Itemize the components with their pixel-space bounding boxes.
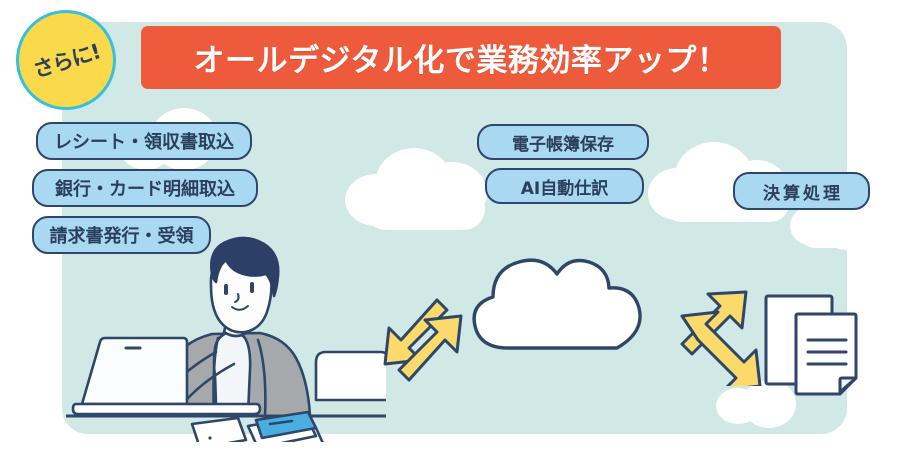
pill-bank-card-import: 銀行・カード明細取込 <box>32 169 258 207</box>
pill-receipt-import: レシート・領収書取込 <box>36 122 252 160</box>
title-banner: オールデジタル化で業務効率アップ！ <box>141 26 781 89</box>
sarani-badge: さらに! <box>16 10 116 110</box>
pill-ai-auto-journal: AI自動仕訳 <box>485 168 644 204</box>
sarani-badge-label: さらに! <box>29 36 103 85</box>
person-at-laptop <box>66 212 386 442</box>
pill-electronic-bookkeeping: 電子帳簿保存 <box>477 124 649 160</box>
page-title: オールデジタル化で業務効率アップ！ <box>194 35 729 80</box>
exchange-arrows-left-icon <box>375 292 471 388</box>
promo-graphic: オールデジタル化で業務効率アップ！ さらに! レシート・領収書取込 銀行・カード… <box>0 0 909 459</box>
pill-settlement-processing: 決算処理 <box>733 172 870 210</box>
documents-icon <box>760 292 878 406</box>
cloud-icon <box>468 244 658 356</box>
exchange-arrows-right-icon <box>676 286 772 386</box>
